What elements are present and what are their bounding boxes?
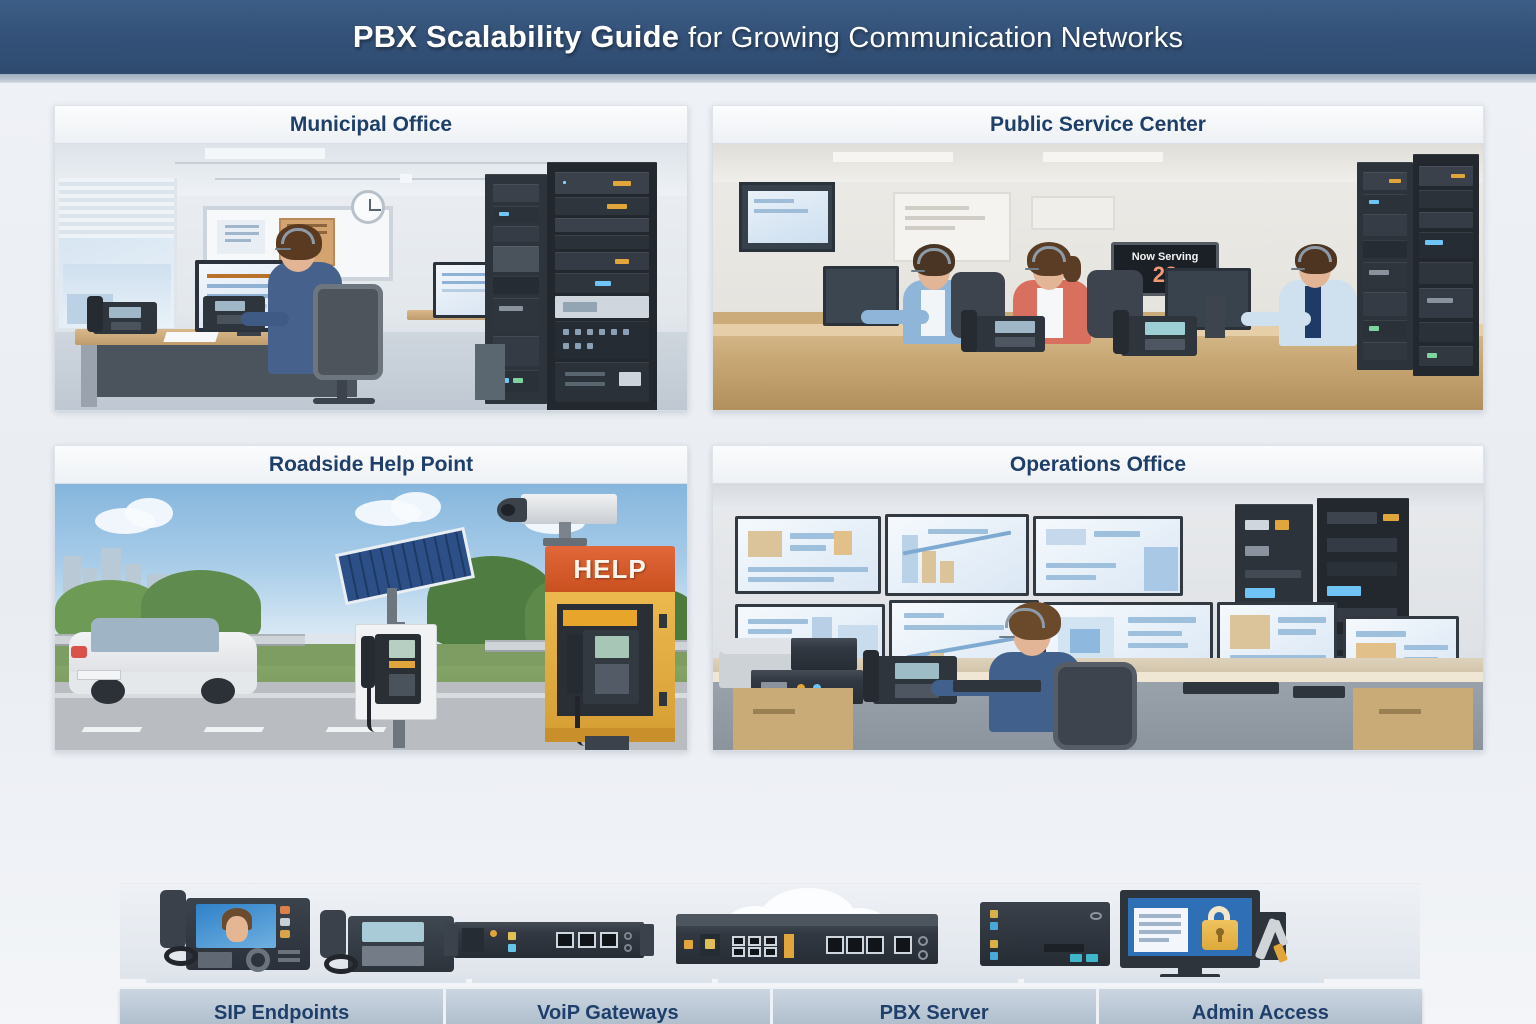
padlock-icon (1208, 906, 1230, 920)
panel-public-service-center-title: Public Service Center (990, 113, 1206, 137)
header-underline (0, 74, 1536, 83)
help-kiosk-label: HELP (573, 554, 646, 585)
panel-public-service-center-header: Public Service Center (712, 105, 1484, 143)
panel-public-service-center-image: Now Serving 23 (712, 143, 1484, 411)
legend-label-sip-endpoints: SIP Endpoints (214, 1002, 349, 1024)
legend-item-admin-access[interactable]: Admin Access (1099, 989, 1422, 1024)
device-admin-monitor (1116, 886, 1286, 978)
legend-item-voip-gateways[interactable]: VoiP Gateways (446, 989, 772, 1024)
panel-operations-office[interactable]: Operations Office (712, 445, 1484, 751)
panel-municipal-office-image (54, 143, 688, 411)
help-kiosk-header: HELP (545, 546, 675, 592)
desk-phone (1121, 316, 1197, 356)
panel-operations-office-title: Operations Office (1010, 453, 1186, 477)
device-voip-gateway (428, 908, 668, 972)
device-video-phone (160, 888, 320, 976)
panel-roadside-help-point-image: HELP (54, 483, 688, 751)
panel-operations-office-header: Operations Office (712, 445, 1484, 483)
page-title: PBX Scalability Guide for Growing Commun… (353, 19, 1183, 55)
wall-clock-icon (351, 190, 385, 224)
device-admin-server (980, 896, 1116, 974)
legend-label-pbx-server: PBX Server (880, 1002, 989, 1024)
legend-item-sip-endpoints[interactable]: SIP Endpoints (120, 989, 446, 1024)
cctv-camera-icon (521, 494, 617, 524)
device-pbx-server (660, 884, 980, 978)
content-stage: Municipal Office (0, 83, 1536, 1024)
legend-label-admin-access: Admin Access (1192, 1002, 1329, 1024)
panel-roadside-help-point-title: Roadside Help Point (269, 453, 473, 477)
panel-municipal-office-title: Municipal Office (290, 113, 452, 137)
legend-item-pbx-server[interactable]: PBX Server (773, 989, 1099, 1024)
page-title-light: for Growing Communication Networks (688, 22, 1183, 54)
page-title-strong: PBX Scalability Guide (353, 19, 679, 54)
legend-label-voip-gateways: VoiP Gateways (537, 1002, 679, 1024)
panel-municipal-office[interactable]: Municipal Office (54, 105, 688, 411)
panel-roadside-help-point[interactable]: Roadside Help Point (54, 445, 688, 751)
device-shelf (120, 883, 1420, 979)
panel-roadside-help-point-header: Roadside Help Point (54, 445, 688, 483)
panel-public-service-center[interactable]: Public Service Center Now Serving (712, 105, 1484, 411)
page-header: PBX Scalability Guide for Growing Commun… (0, 0, 1536, 74)
legend-bar: SIP Endpoints VoiP Gateways PBX Server A… (120, 989, 1422, 1024)
panel-municipal-office-header: Municipal Office (54, 105, 688, 143)
desk-phone (969, 316, 1045, 352)
panel-operations-office-image (712, 483, 1484, 751)
